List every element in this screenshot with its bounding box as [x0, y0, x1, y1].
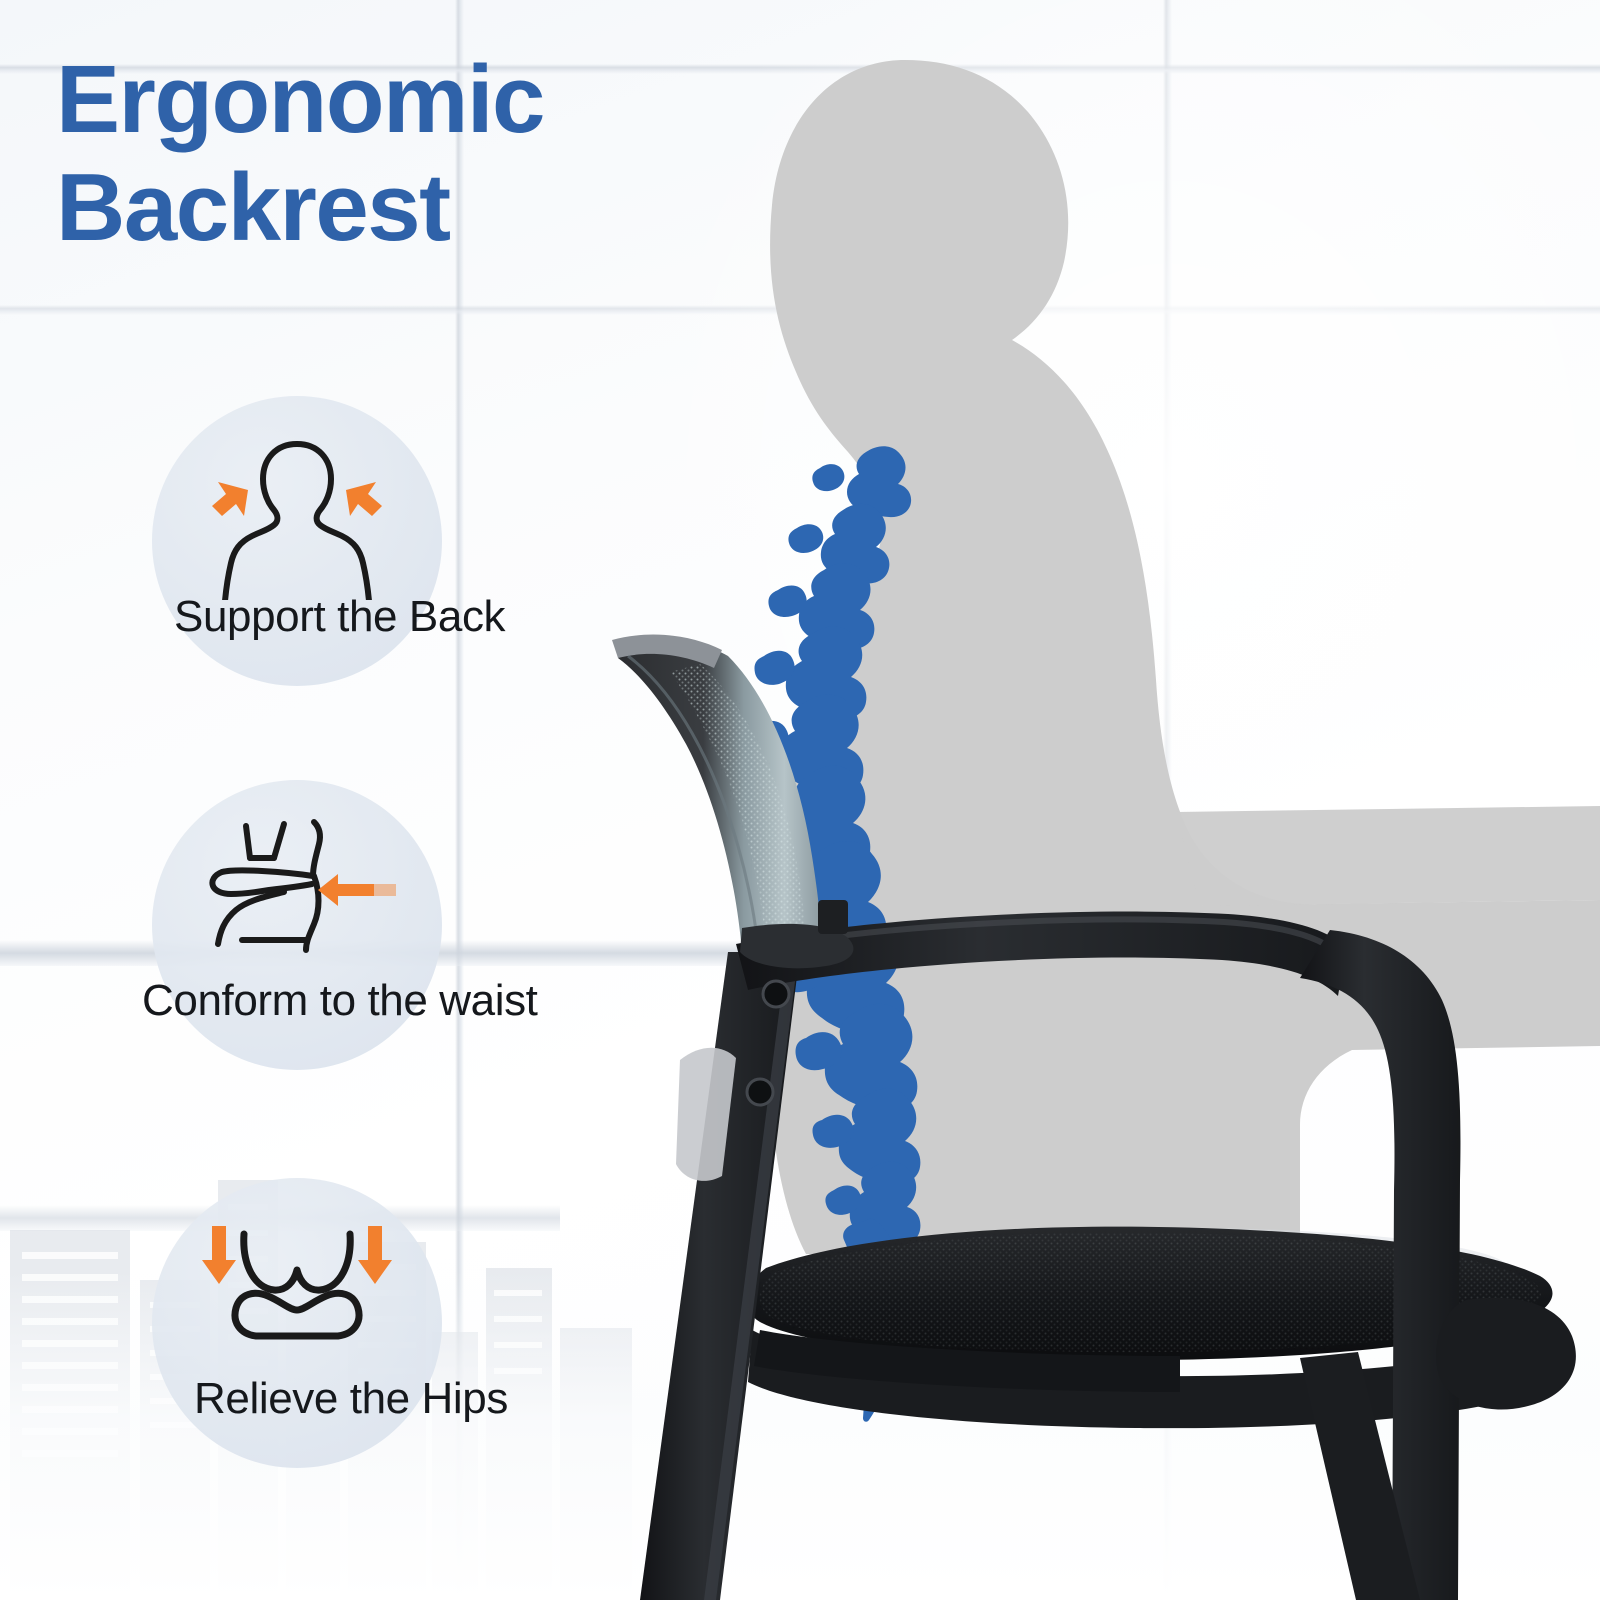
page-title: Ergonomic Backrest [56, 46, 836, 261]
feature-label: Support the Back [174, 592, 694, 642]
arrow-up-right-icon [346, 482, 382, 516]
arrow-down-left-icon [202, 1226, 236, 1284]
silhouette-arm-extension [1176, 806, 1600, 906]
feature-label: Conform to the waist [142, 976, 662, 1026]
arrow-down-right-icon [358, 1226, 392, 1284]
feature-label: Relieve the Hips [194, 1374, 714, 1424]
product-feature-graphic: Ergonomic Backrest Support the Back [0, 0, 1600, 1600]
chair-armrest-pad [1436, 1298, 1576, 1410]
hips-on-cushion-down-arrows-icon [188, 1212, 406, 1382]
person-head-shoulders-outward-arrows-icon [188, 430, 406, 600]
chair-back-adjust-knob [818, 900, 848, 934]
arrow-up-left-icon [212, 482, 248, 516]
seated-person-side-profile-lumbar-arrow-icon [188, 814, 406, 984]
arrow-left-icon [318, 874, 396, 906]
